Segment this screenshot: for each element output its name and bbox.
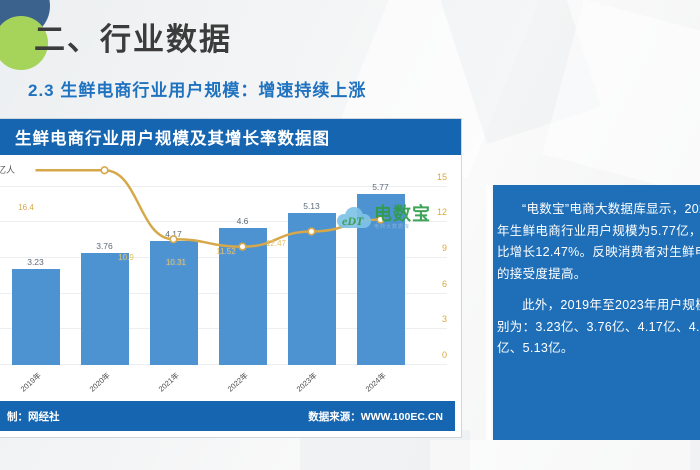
chart-card-header: 生鲜电商行业用户规模及其增长率数据图 — [0, 119, 461, 155]
y-axis-right: 03691215 — [421, 169, 455, 365]
y-axis-right-tick: 15 — [437, 172, 447, 182]
panel-paragraph: “电数宝”电商大数据库显示，2024年生鲜电商行业用户规模为5.77亿，同比增长… — [493, 199, 700, 285]
chart-card-footer: 制：网经社 数据来源：WWW.100EC.CN — [0, 401, 455, 431]
y-axis-right-tick: 12 — [437, 207, 447, 217]
growth-line-series — [1, 169, 415, 376]
background-shape-5 — [430, 440, 690, 470]
summary-text-panel: “电数宝”电商大数据库显示，2024年生鲜电商行业用户规模为5.77亿，同比增长… — [493, 185, 700, 440]
line-data-point — [308, 228, 315, 235]
panel-paragraph: 此外，2019年至2023年用户规模分别为：3.23亿、3.76亿、4.17亿、… — [493, 295, 700, 360]
logo-name: 电数宝 — [374, 205, 431, 223]
y-axis-right-tick: 9 — [442, 243, 447, 253]
growth-rate-line — [36, 170, 381, 246]
line-data-point — [239, 243, 246, 250]
chart-plot-area: 亿人 3.233.764.174.65.135.77 2019年2020年202… — [0, 155, 461, 401]
chart-credit: 制：网经社 — [7, 409, 60, 424]
logo-mark: eDT — [342, 214, 363, 229]
line-data-point — [101, 167, 108, 174]
logo-tagline: 电商大数据库 — [374, 223, 431, 230]
line-value-label: 11.52 — [216, 247, 235, 256]
chart-source: 数据来源：WWW.100EC.CN — [308, 409, 443, 424]
y-axis-right-tick: 6 — [442, 279, 447, 289]
slide-subtitle: 2.3 生鲜电商行业用户规模：增速持续上涨 — [28, 76, 366, 101]
chart-card: 生鲜电商行业用户规模及其增长率数据图 亿人 3.233.764.174.65.1… — [0, 118, 462, 438]
line-value-label: 12.47 — [266, 239, 286, 248]
line-value-label: 16.4 — [18, 203, 34, 212]
panel-accent-bar — [486, 185, 491, 440]
line-data-point — [170, 236, 177, 243]
cloud-icon: eDT — [337, 207, 371, 229]
line-value-label: 10.31 — [166, 258, 186, 267]
y-axis-right-tick: 0 — [442, 350, 447, 360]
chart-title: 生鲜电商行业用户规模及其增长率数据图 — [0, 125, 330, 149]
edianshubao-logo: eDT 电数宝 电商大数据库 — [337, 205, 431, 230]
section-title: 二、行业数据 — [34, 24, 232, 55]
line-value-label: 10.9 — [118, 253, 134, 262]
y-axis-right-tick: 3 — [442, 314, 447, 324]
